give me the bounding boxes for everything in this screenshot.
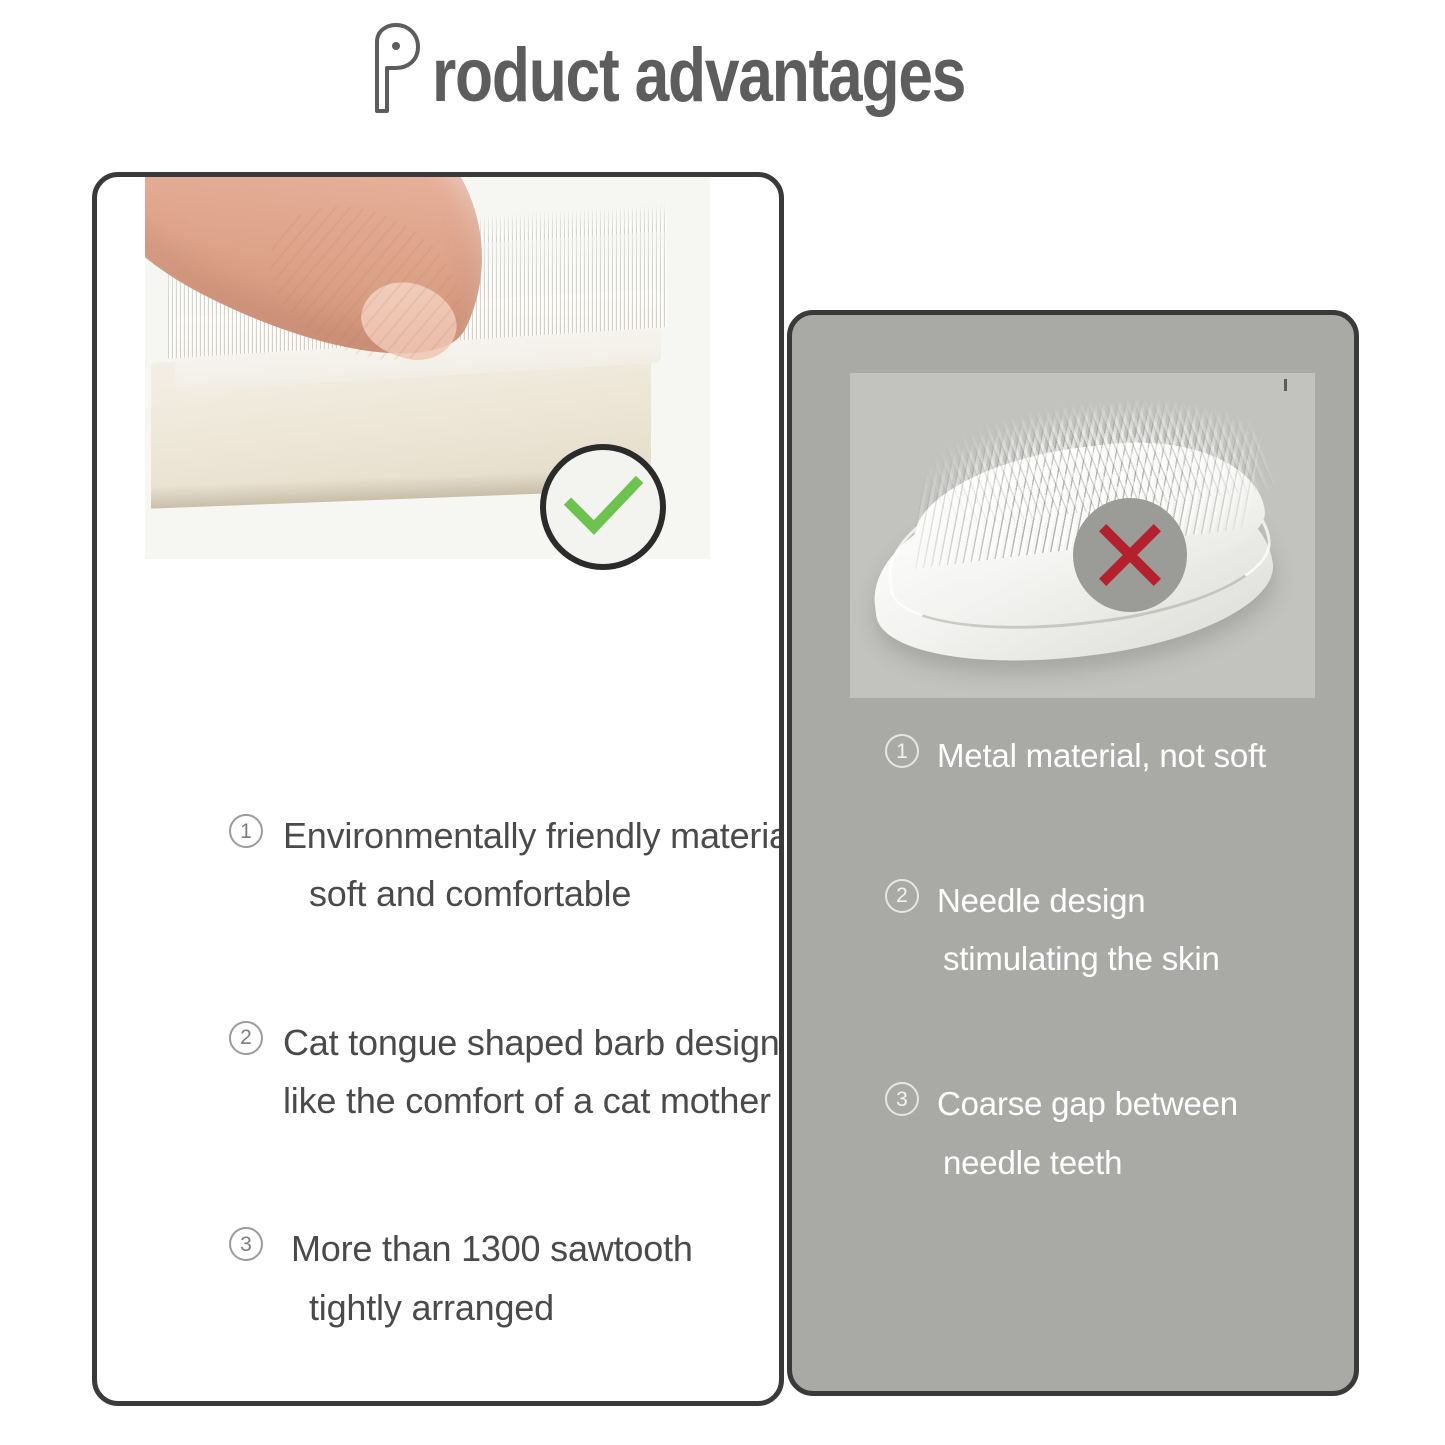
bad-drawback-list: 1 Metal material, not soft 2 Needle desi… (885, 727, 1335, 1193)
item-text: Metal material, not soft (937, 727, 1266, 786)
list-item: 2 Needle design stimulating the skin (885, 872, 1335, 989)
item-text-line: stimulating the skin (943, 930, 1220, 989)
item-text-line: like the comfort of a cat mother (283, 1072, 780, 1130)
bad-product-card: 1 Metal material, not soft 2 Needle desi… (787, 310, 1359, 1396)
item-text-line: Metal material, not soft (937, 727, 1266, 786)
item-text: More than 1300 sawtooth tightly arranged (283, 1220, 693, 1337)
list-item: 1 Environmentally friendly material soft… (229, 807, 784, 924)
item-number-circle: 3 (885, 1082, 919, 1116)
item-text: Coarse gap between needle teeth (937, 1075, 1238, 1192)
list-item: 3 Coarse gap between needle teeth (885, 1075, 1335, 1192)
item-number-circle: 2 (885, 879, 919, 913)
list-item: 2 Cat tongue shaped barb design like the… (229, 1014, 784, 1131)
photo-speck (1284, 379, 1287, 391)
item-text-line: needle teeth (943, 1134, 1238, 1193)
item-text: Environmentally friendly material soft a… (283, 807, 784, 924)
good-product-card: 1 Environmentally friendly material soft… (92, 172, 784, 1406)
page-title-text: roduct advantages (432, 32, 965, 119)
list-item: 3 More than 1300 sawtooth tightly arrang… (229, 1220, 784, 1337)
page-title: roduct advantages (0, 22, 1445, 119)
good-advantage-list: 1 Environmentally friendly material soft… (229, 807, 784, 1337)
item-number-circle: 1 (229, 814, 263, 848)
item-text-line: More than 1300 sawtooth (291, 1220, 693, 1278)
item-text-line: Needle design (937, 872, 1220, 931)
item-text-line: Coarse gap between (937, 1075, 1238, 1134)
list-item: 1 Metal material, not soft (885, 727, 1335, 786)
item-text: Needle design stimulating the skin (937, 872, 1220, 989)
item-number-circle: 1 (885, 734, 919, 768)
item-text-line: soft and comfortable (309, 865, 784, 923)
item-text-line: Environmentally friendly material (283, 807, 784, 865)
item-text-line: tightly arranged (309, 1279, 693, 1337)
cross-badge-icon (1073, 498, 1187, 612)
item-number-circle: 3 (229, 1227, 263, 1261)
item-text-line: Cat tongue shaped barb design (283, 1014, 780, 1072)
item-text: Cat tongue shaped barb design like the c… (283, 1014, 780, 1131)
check-badge-icon (540, 444, 666, 570)
dropcap-p-icon (363, 22, 425, 119)
item-number-circle: 2 (229, 1021, 263, 1055)
